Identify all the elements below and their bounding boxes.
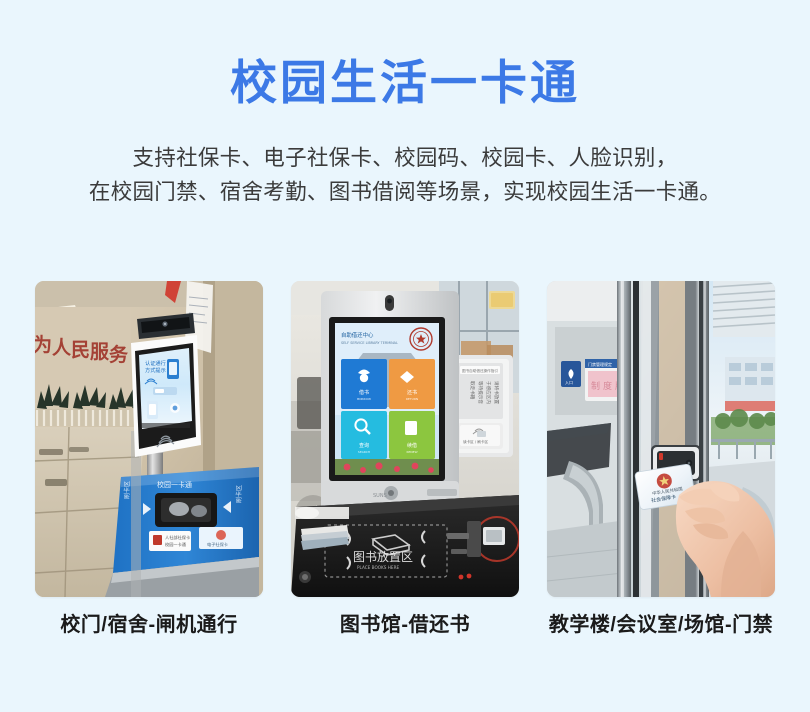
svg-text:借书: 借书 bbox=[359, 389, 369, 396]
svg-text:SEARCH: SEARCH bbox=[358, 450, 370, 454]
svg-text:SUNS: SUNS bbox=[373, 493, 387, 499]
scenario-card-gate: 为 人 民 服 务 bbox=[35, 281, 263, 637]
svg-text:RENEW: RENEW bbox=[406, 450, 417, 454]
svg-text:门禁管理规定: 门禁管理规定 bbox=[588, 361, 612, 367]
svg-text:PLACE BOOKS HERE: PLACE BOOKS HERE bbox=[357, 565, 399, 570]
svg-text:图书放置区: 图书放置区 bbox=[353, 549, 413, 564]
svg-text:查询: 查询 bbox=[359, 442, 369, 449]
svg-text:为: 为 bbox=[35, 333, 52, 356]
scenario-card-list: 为 人 民 服 务 bbox=[35, 281, 775, 637]
svg-text:服: 服 bbox=[90, 341, 110, 363]
svg-text:校园一卡通: 校园一卡通 bbox=[165, 541, 187, 548]
svg-text:电子社保卡: 电子社保卡 bbox=[207, 541, 228, 548]
svg-text:刷卡区: 刷卡区 bbox=[123, 481, 131, 499]
svg-text:读卡区 / 刷卡区: 读卡区 / 刷卡区 bbox=[463, 439, 488, 444]
subtitle-line-2: 在校园门禁、宿舍考勤、图书借阅等场景，实现校园生活一卡通。 bbox=[0, 175, 810, 210]
svg-text:请将书放置: 请将书放置 bbox=[493, 381, 500, 404]
svg-text:入口: 入口 bbox=[565, 380, 573, 385]
subtitle-block: 支持社保卡、电子社保卡、校园码、校园卡、人脸识别， 在校园门禁、宿舍考勤、图书借… bbox=[0, 141, 810, 211]
svg-text:认证通行: 认证通行 bbox=[145, 359, 166, 367]
svg-text:BORROW: BORROW bbox=[357, 397, 371, 401]
svg-text:等待提示音: 等待提示音 bbox=[477, 381, 484, 404]
svg-text:续借: 续借 bbox=[407, 442, 417, 449]
card-caption-gate: 校门/宿舍-闸机通行 bbox=[60, 613, 237, 637]
svg-text:取走书籍: 取走书籍 bbox=[469, 381, 476, 400]
product-feature-page: 校园生活一卡通 支持社保卡、电子社保卡、校园码、校园卡、人脸识别， 在校园门禁、… bbox=[0, 0, 810, 712]
svg-text:人: 人 bbox=[52, 337, 72, 359]
svg-text:自助借还中心: 自助借还中心 bbox=[341, 331, 374, 339]
svg-text:校园一卡通: 校园一卡通 bbox=[157, 480, 192, 489]
svg-text:RETURN: RETURN bbox=[406, 397, 418, 401]
svg-text:民: 民 bbox=[71, 339, 90, 361]
subtitle-line-1: 支持社保卡、电子社保卡、校园码、校园卡、人脸识别， bbox=[0, 141, 810, 176]
card-caption-door: 教学楼/会议室/场馆-门禁 bbox=[549, 613, 773, 637]
svg-text:图书自助借还操作指引: 图书自助借还操作指引 bbox=[462, 368, 498, 373]
svg-text:务: 务 bbox=[109, 343, 129, 366]
page-header: 校园生活一卡通 支持社保卡、电子社保卡、校园码、校园卡、人脸识别， 在校园门禁、… bbox=[0, 0, 810, 210]
svg-text:制: 制 bbox=[591, 380, 600, 392]
scenario-card-door: 入口 门禁管理规定 制度牌 bbox=[547, 281, 775, 637]
svg-text:度: 度 bbox=[603, 380, 612, 392]
svg-text:SELF SERVICE LIBRARY TERMINAL: SELF SERVICE LIBRARY TERMINAL bbox=[341, 341, 398, 345]
photo-library-kiosk: 图书自助借还操作指引 请将书放置 于感应区内 等待提示音 取走书籍 bbox=[291, 281, 519, 597]
card-caption-library: 图书馆-借还书 bbox=[340, 613, 470, 637]
photo-door-access: 入口 门禁管理规定 制度牌 bbox=[547, 281, 775, 597]
page-title: 校园生活一卡通 bbox=[0, 56, 810, 111]
photo-gate-turnstile: 为 人 民 服 务 bbox=[35, 281, 263, 597]
svg-text:于感应区内: 于感应区内 bbox=[485, 381, 492, 404]
svg-text:还书: 还书 bbox=[407, 389, 417, 396]
svg-text:人社部社保卡: 人社部社保卡 bbox=[165, 534, 190, 541]
svg-text:方式提示: 方式提示 bbox=[145, 366, 166, 374]
svg-text:刷卡区: 刷卡区 bbox=[235, 485, 243, 503]
scenario-card-library: 图书自助借还操作指引 请将书放置 于感应区内 等待提示音 取走书籍 bbox=[291, 281, 519, 637]
